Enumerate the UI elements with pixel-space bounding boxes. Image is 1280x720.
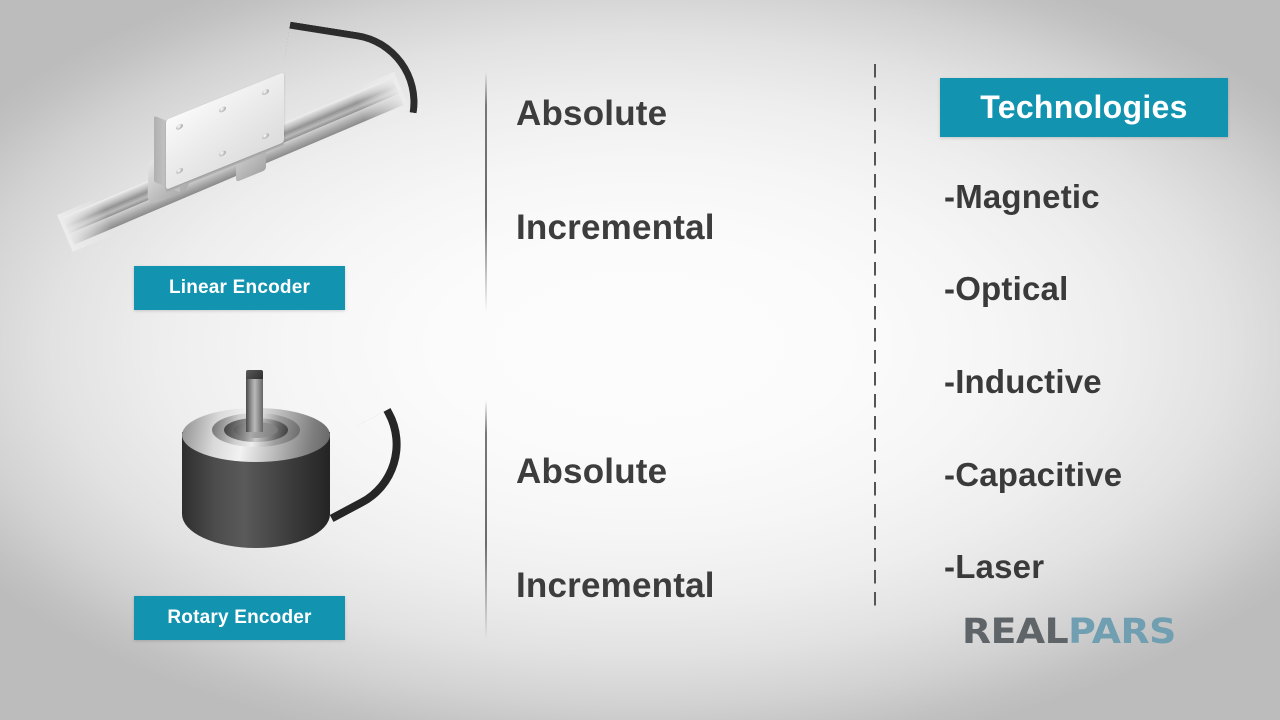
screw-icon — [219, 150, 226, 158]
badge-rotary-encoder-label: Rotary Encoder — [167, 607, 311, 629]
rotary-encoder-illustration — [160, 368, 410, 588]
center-item-incremental-rotary: Incremental — [516, 566, 715, 606]
center-item-absolute-linear: Absolute — [516, 94, 667, 134]
technology-item-optical: -Optical — [944, 270, 1068, 308]
technologies-header: Technologies — [940, 78, 1228, 137]
screw-icon — [219, 106, 226, 114]
center-item-absolute-rotary: Absolute — [516, 452, 667, 492]
screw-icon — [262, 88, 269, 96]
slide-canvas: Linear Encoder Rotary Encoder Absolute I… — [0, 0, 1280, 720]
divider-line-lower — [485, 400, 487, 640]
realpars-logo: REALPARS — [962, 612, 1176, 652]
realpars-logo-pars: PARS — [1068, 612, 1176, 652]
screw-icon — [176, 167, 183, 175]
technology-item-capacitive: -Capacitive — [944, 456, 1122, 494]
screw-icon — [176, 123, 183, 131]
technology-item-laser: -Laser — [944, 548, 1044, 586]
badge-rotary-encoder: Rotary Encoder — [134, 596, 345, 640]
screw-icon — [262, 132, 269, 140]
technology-item-magnetic: -Magnetic — [944, 178, 1100, 216]
realpars-logo-real: REAL — [962, 612, 1068, 652]
badge-linear-encoder: Linear Encoder — [134, 266, 345, 310]
rotary-encoder-shaft-tip — [246, 370, 263, 379]
technologies-header-label: Technologies — [980, 89, 1187, 126]
technology-item-inductive: -Inductive — [944, 363, 1102, 401]
dashed-divider-line — [874, 64, 876, 612]
rotary-encoder-shaft — [246, 374, 263, 432]
center-item-incremental-linear: Incremental — [516, 208, 715, 248]
linear-encoder-illustration — [48, 18, 408, 268]
badge-linear-encoder-label: Linear Encoder — [169, 277, 310, 299]
divider-line-upper — [485, 72, 487, 312]
